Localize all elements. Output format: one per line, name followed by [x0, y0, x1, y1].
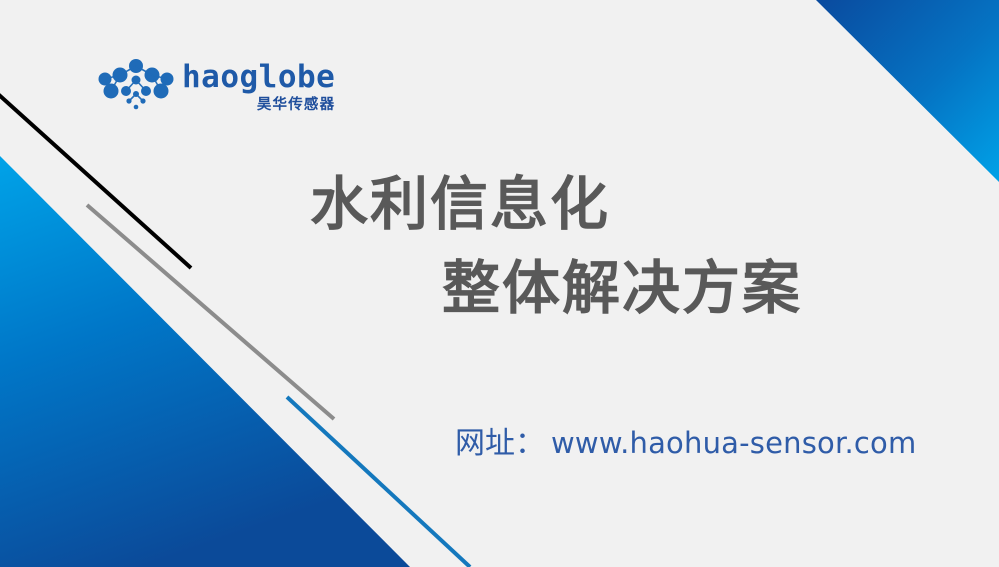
haoglobe-network-logo-mark: [98, 58, 174, 114]
title-line-2: 整体解决方案: [0, 246, 999, 330]
website-line: 网址： www.haohua-sensor.com: [455, 418, 916, 462]
website-label: 网址：: [455, 418, 545, 462]
logo-wordmark: haoglobe: [182, 62, 335, 93]
title-line-1: 水利信息化: [0, 162, 999, 246]
website-url[interactable]: www.haohua-sensor.com: [551, 426, 916, 460]
logo-text-group: haoglobe 昊华传感器: [182, 58, 335, 113]
page-title: 水利信息化 整体解决方案: [0, 162, 999, 330]
brand-logo: haoglobe 昊华传感器: [98, 58, 335, 114]
slide-canvas: haoglobe 昊华传感器 水利信息化 整体解决方案 网址： www.haoh…: [0, 0, 999, 567]
logo-chinese-subtitle: 昊华传感器: [257, 98, 336, 113]
